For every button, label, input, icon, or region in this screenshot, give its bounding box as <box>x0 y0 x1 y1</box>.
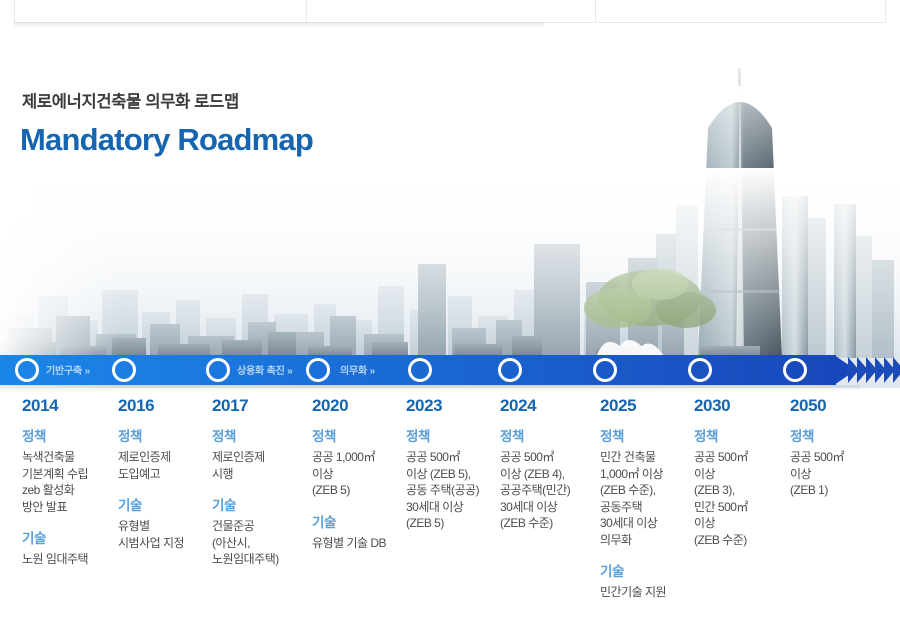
table-cell <box>306 0 596 22</box>
column-section-label: 정책 <box>212 425 304 445</box>
column-year: 2050 <box>790 396 882 416</box>
roadmap-column-2017: 2017정책제로인증제 시행기술건물준공 (아산시, 노원임대주택) <box>212 396 304 568</box>
roadmap-columns: 2014정책녹색건축물 기본계획 수립 zeb 활성화 방안 발표기술노원 임대… <box>0 396 900 636</box>
timeline-node-1[interactable] <box>15 358 39 382</box>
column-section-label: 정책 <box>406 425 498 445</box>
timeline-node-2[interactable] <box>112 358 136 382</box>
column-year: 2030 <box>694 396 786 416</box>
timeline-node-9[interactable] <box>783 358 807 382</box>
table-cell <box>596 0 886 22</box>
column-section-text: 노원 임대주택 <box>22 551 114 568</box>
roadmap-column-2023: 2023정책공공 500㎡ 이상 (ZEB 5), 공동 주택(공공) 30세대… <box>406 396 498 532</box>
top-table <box>14 0 886 23</box>
timeline-node-5[interactable] <box>408 358 432 382</box>
column-year: 2014 <box>22 396 114 416</box>
column-year: 2025 <box>600 396 692 416</box>
roadmap-column-2024: 2024정책공공 500㎡ 이상 (ZEB 4), 공공주택(민간) 30세대 … <box>500 396 592 532</box>
timeline-bar: 기반구축 »상용화 촉진 »의무화 » <box>0 355 900 385</box>
cityscape-illustration <box>0 28 900 388</box>
column-section-text: 민간기술 지원 <box>600 584 692 601</box>
roadmap-column-2050: 2050정책공공 500㎡ 이상 (ZEB 1) <box>790 396 882 499</box>
column-section-text: 제로인증제 도입예고 <box>118 449 210 482</box>
column-section-label: 정책 <box>312 425 404 445</box>
column-section-text: 녹색건축물 기본계획 수립 zeb 활성화 방안 발표 <box>22 449 114 515</box>
column-year: 2023 <box>406 396 498 416</box>
table-cell <box>15 0 307 22</box>
timeline-node-8[interactable] <box>688 358 712 382</box>
column-section-label: 정책 <box>500 425 592 445</box>
column-section-text: 공공 500㎡ 이상 (ZEB 1) <box>790 449 882 499</box>
column-year: 2020 <box>312 396 404 416</box>
roadmap-column-2016: 2016정책제로인증제 도입예고기술유형별 시범사업 지정 <box>118 396 210 551</box>
column-section-label: 정책 <box>22 425 114 445</box>
roadmap-column-2030: 2030정책공공 500㎡ 이상 (ZEB 3), 민간 500㎡ 이상 (ZE… <box>694 396 786 548</box>
roadmap-column-2020: 2020정책공공 1,000㎡ 이상 (ZEB 5)기술유형별 기술 DB <box>312 396 404 551</box>
page-title-en: Mandatory Roadmap <box>20 122 313 158</box>
column-section-text: 유형별 기술 DB <box>312 535 404 552</box>
timeline-phase-label-3: 의무화 » <box>340 362 375 377</box>
column-section-text: 건물준공 (아산시, 노원임대주택) <box>212 518 304 568</box>
timeline-phase-label-2: 상용화 촉진 » <box>237 362 293 377</box>
column-year: 2016 <box>118 396 210 416</box>
column-section-label: 정책 <box>790 425 882 445</box>
column-section-label: 정책 <box>118 425 210 445</box>
column-section-label: 기술 <box>22 527 114 547</box>
chevron-right-icon <box>893 357 900 383</box>
column-section-text: 공공 500㎡ 이상 (ZEB 5), 공동 주택(공공) 30세대 이상 (Z… <box>406 449 498 532</box>
column-section-text: 유형별 시범사업 지정 <box>118 518 210 551</box>
column-section-text: 공공 500㎡ 이상 (ZEB 3), 민간 500㎡ 이상 (ZEB 수준) <box>694 449 786 548</box>
timeline-node-4[interactable] <box>306 358 330 382</box>
column-section-label: 정책 <box>694 425 786 445</box>
timeline-node-6[interactable] <box>498 358 522 382</box>
column-year: 2024 <box>500 396 592 416</box>
column-section-label: 정책 <box>600 425 692 445</box>
column-section-text: 제로인증제 시행 <box>212 449 304 482</box>
column-section-label: 기술 <box>312 511 404 531</box>
timeline-node-7[interactable] <box>593 358 617 382</box>
column-section-text: 공공 1,000㎡ 이상 (ZEB 5) <box>312 449 404 499</box>
roadmap-column-2025: 2025정책민간 건축물 1,000㎡ 이상 (ZEB 수준), 공동주택 30… <box>600 396 692 601</box>
column-section-text: 민간 건축물 1,000㎡ 이상 (ZEB 수준), 공동주택 30세대 이상 … <box>600 449 692 548</box>
table-row <box>15 0 886 22</box>
column-section-text: 공공 500㎡ 이상 (ZEB 4), 공공주택(민간) 30세대 이상 (ZE… <box>500 449 592 532</box>
timeline-shadow <box>0 385 860 391</box>
column-section-label: 기술 <box>600 560 692 580</box>
column-section-label: 기술 <box>118 494 210 514</box>
column-year: 2017 <box>212 396 304 416</box>
roadmap-page: 제로에너지건축물 의무화 로드맵 Mandatory Roadmap 기반구축 … <box>0 0 900 636</box>
roadmap-column-2014: 2014정책녹색건축물 기본계획 수립 zeb 활성화 방안 발표기술노원 임대… <box>22 396 114 568</box>
timeline-phase-label-1: 기반구축 » <box>46 362 90 377</box>
column-section-label: 기술 <box>212 494 304 514</box>
timeline-node-3[interactable] <box>206 358 230 382</box>
page-title-kr: 제로에너지건축물 의무화 로드맵 <box>22 88 239 112</box>
roadmap-banner <box>0 28 900 388</box>
